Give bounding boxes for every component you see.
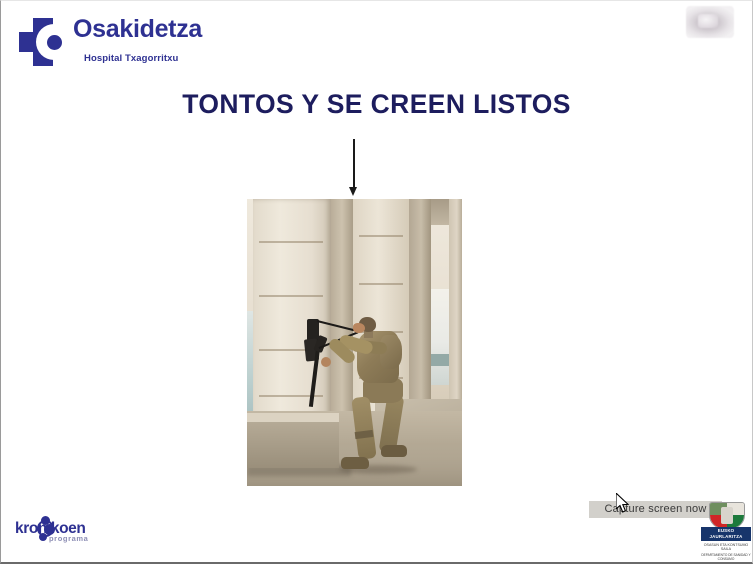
- faded-image-watermark-icon: [686, 6, 734, 38]
- gov-band-line1: EUSKO JAURLARITZA: [701, 528, 751, 540]
- basque-coat-of-arms-icon: [709, 502, 745, 529]
- osakidetza-logo: Osakidetza Hospital Txagorritxu: [19, 15, 229, 73]
- brand-name: Osakidetza: [73, 15, 202, 44]
- kronikoen-logo: kronikoen programa: [15, 514, 111, 546]
- photo-soldier-image: [247, 199, 462, 486]
- kronikoen-subtitle: programa: [49, 534, 88, 543]
- brand-subtitle: Hospital Txagorritxu: [84, 53, 178, 64]
- gov-subtitle-2: DEPARTAMENTO DE SANIDAD Y CONSUMO: [701, 553, 751, 561]
- mouse-pointer-icon: [616, 493, 630, 514]
- osakidetza-cross-icon: [19, 18, 67, 66]
- gov-subtitle-1: OSASUN ETA KONTSUMO SAILA: [701, 543, 751, 552]
- arrow-down-icon: [347, 139, 361, 197]
- page-title: TONTOS Y SE CREEN LISTOS: [1, 89, 752, 120]
- basque-government-logo: EUSKO JAURLARITZA GOBIERNO VASCO OSASUN …: [701, 502, 751, 560]
- presentation-slide: Osakidetza Hospital Txagorritxu TONTOS Y…: [0, 0, 753, 564]
- gov-band: EUSKO JAURLARITZA GOBIERNO VASCO: [701, 527, 751, 541]
